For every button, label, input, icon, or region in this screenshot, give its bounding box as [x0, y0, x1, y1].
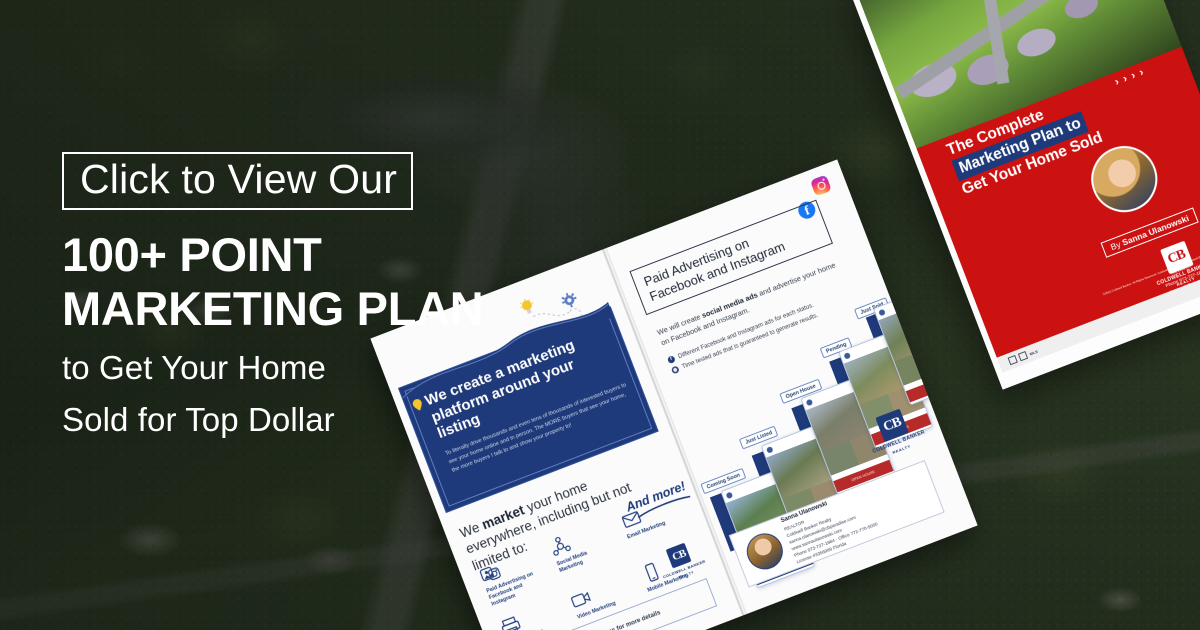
hero-copy: Click to View Our 100+ POINT MARKETING P…: [62, 152, 532, 440]
print-icon: [498, 614, 524, 630]
instagram-icon: [810, 174, 832, 196]
hero-kicker-label: Click to View Our: [80, 158, 397, 201]
accessibility-icon: [1018, 351, 1028, 361]
ad-banner-label: JUST SOLD: [926, 381, 946, 392]
avatar: [766, 446, 774, 454]
headline-line-2: MARKETING PLAN: [62, 282, 532, 335]
avatar: [843, 352, 851, 360]
video-icon: [568, 587, 594, 613]
headline-line-1: 100+ POINT: [62, 228, 532, 281]
avatar: [878, 309, 886, 317]
agent-avatar: [742, 528, 789, 575]
facebook-bullet-icon: f: [667, 355, 676, 364]
banner-canvas[interactable]: Click to View Our 100+ POINT MARKETING P…: [0, 0, 1200, 630]
avatar: [726, 491, 734, 499]
mls-label: MLS: [1029, 348, 1039, 356]
equal-housing-icon: [1008, 355, 1018, 365]
clock-bullet-icon: ⌚: [671, 366, 680, 375]
click-to-view-button[interactable]: Click to View Our: [62, 152, 413, 210]
avatar: [806, 399, 814, 407]
subheadline-line-2: Sold for Top Dollar: [62, 400, 532, 440]
subheadline-line-1: to Get Your Home: [62, 348, 532, 388]
